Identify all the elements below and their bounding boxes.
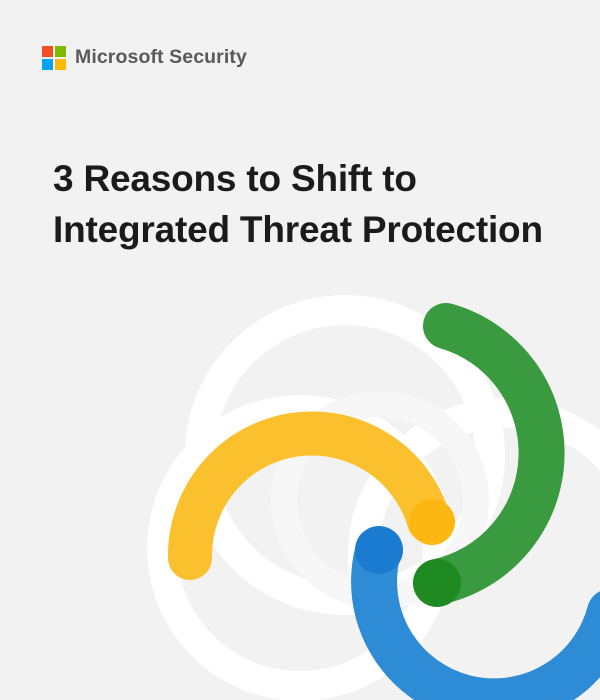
page-title-line-2: Integrated Threat Protection: [53, 204, 563, 255]
background-ring-right: [363, 413, 600, 697]
yellow-arc: [190, 433, 455, 558]
blue-arc: [355, 526, 600, 700]
cover-page: Microsoft Security 3 Reasons to Shift to…: [0, 0, 600, 700]
background-ring-lower-left: [162, 410, 438, 686]
logo-square-blue: [42, 59, 53, 70]
page-title-line-1: 3 Reasons to Shift to: [53, 153, 563, 204]
background-rings: [162, 310, 600, 697]
brand-lockup: Microsoft Security: [42, 46, 247, 70]
yellow-arc-cap: [409, 499, 455, 545]
background-ring-upper-left: [200, 310, 490, 600]
brand-name: Microsoft Security: [75, 48, 247, 68]
blue-arc-cap: [355, 526, 403, 574]
green-arc: [413, 326, 542, 607]
background-ring-inner-faint: [284, 404, 476, 596]
green-arc-cap: [413, 559, 461, 607]
page-title: 3 Reasons to Shift to Integrated Threat …: [53, 153, 563, 255]
microsoft-logo-icon: [42, 46, 66, 70]
logo-square-red: [42, 46, 53, 57]
logo-square-green: [55, 46, 66, 57]
interlocking-rings-graphic: [0, 0, 600, 700]
logo-square-yellow: [55, 59, 66, 70]
